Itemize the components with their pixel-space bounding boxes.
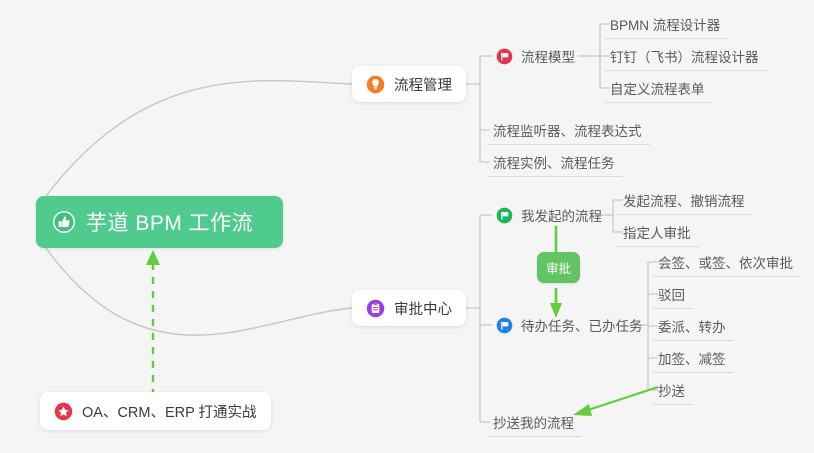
leaf-label: 加签、减签	[658, 348, 726, 368]
root-label: 芋道 BPM 工作流	[86, 207, 253, 237]
leaf-label: 会签、或签、依次审批	[658, 252, 793, 272]
tag-badge-approval[interactable]: 审批	[537, 252, 580, 283]
leaf-label: 抄送	[658, 380, 685, 400]
leaf-label: 抄送我的流程	[493, 412, 574, 432]
callout-label: OA、CRM、ERP 打通实战	[82, 401, 257, 422]
leaf-node-add-remove-sign[interactable]: 加签、减签	[652, 343, 734, 373]
flag-icon	[496, 207, 513, 224]
leaf-node-process-listener[interactable]: 流程监听器、流程表达式	[487, 115, 650, 145]
leaf-node-countersign[interactable]: 会签、或签、依次审批	[652, 247, 801, 277]
mindmap-canvas: 芋道 BPM 工作流 流程管理 流程模型 BPMN 流程设计器 钉钉（飞书）流程	[0, 0, 814, 453]
thumbs-up-icon	[52, 210, 76, 234]
leaf-node-assignee-approval[interactable]: 指定人审批	[617, 217, 699, 247]
leaf-node-custom-form[interactable]: 自定义流程表单	[604, 73, 713, 103]
leaf-label: 指定人审批	[623, 222, 691, 242]
leaf-node-my-initiated-process[interactable]: 我发起的流程	[490, 200, 610, 230]
leaf-label: 自定义流程表单	[610, 78, 705, 98]
leaf-label: BPMN 流程设计器	[610, 14, 720, 34]
star-icon	[54, 402, 73, 421]
leaf-node-process-instance[interactable]: 流程实例、流程任务	[487, 147, 623, 177]
leaf-label: 流程监听器、流程表达式	[493, 120, 642, 140]
branch-label: 流程管理	[394, 74, 452, 95]
branch-node-approval-center[interactable]: 审批中心	[352, 290, 466, 326]
branch-label: 审批中心	[394, 298, 452, 319]
leaf-label: 流程实例、流程任务	[493, 152, 615, 172]
lightbulb-icon	[366, 75, 385, 94]
leaf-label: 我发起的流程	[521, 205, 602, 225]
root-node[interactable]: 芋道 BPM 工作流	[36, 196, 283, 248]
leaf-label: 委派、转办	[658, 316, 726, 336]
flag-icon	[496, 317, 513, 334]
leaf-label: 待办任务、已办任务	[521, 315, 643, 335]
branch-node-process-management[interactable]: 流程管理	[352, 66, 466, 102]
leaf-node-delegate-transfer[interactable]: 委派、转办	[652, 311, 734, 341]
leaf-node-bpmn-designer[interactable]: BPMN 流程设计器	[604, 9, 728, 39]
leaf-label: 驳回	[658, 284, 685, 304]
leaf-node-start-cancel-process[interactable]: 发起流程、撤销流程	[617, 185, 753, 215]
leaf-node-todo-done-tasks[interactable]: 待办任务、已办任务	[490, 310, 651, 340]
callout-node-integration[interactable]: OA、CRM、ERP 打通实战	[40, 392, 271, 430]
clipboard-icon	[366, 299, 385, 318]
tag-label: 审批	[546, 258, 571, 277]
leaf-label: 流程模型	[521, 46, 575, 66]
leaf-node-cc-to-me[interactable]: 抄送我的流程	[487, 407, 582, 437]
leaf-node-cc[interactable]: 抄送	[652, 375, 693, 405]
leaf-label: 发起流程、撤销流程	[623, 190, 745, 210]
leaf-label: 钉钉（飞书）流程设计器	[610, 46, 759, 66]
flag-icon	[496, 48, 513, 65]
leaf-node-dingtalk-designer[interactable]: 钉钉（飞书）流程设计器	[604, 41, 767, 71]
leaf-node-process-model[interactable]: 流程模型	[490, 41, 583, 71]
leaf-node-reject[interactable]: 驳回	[652, 279, 693, 309]
